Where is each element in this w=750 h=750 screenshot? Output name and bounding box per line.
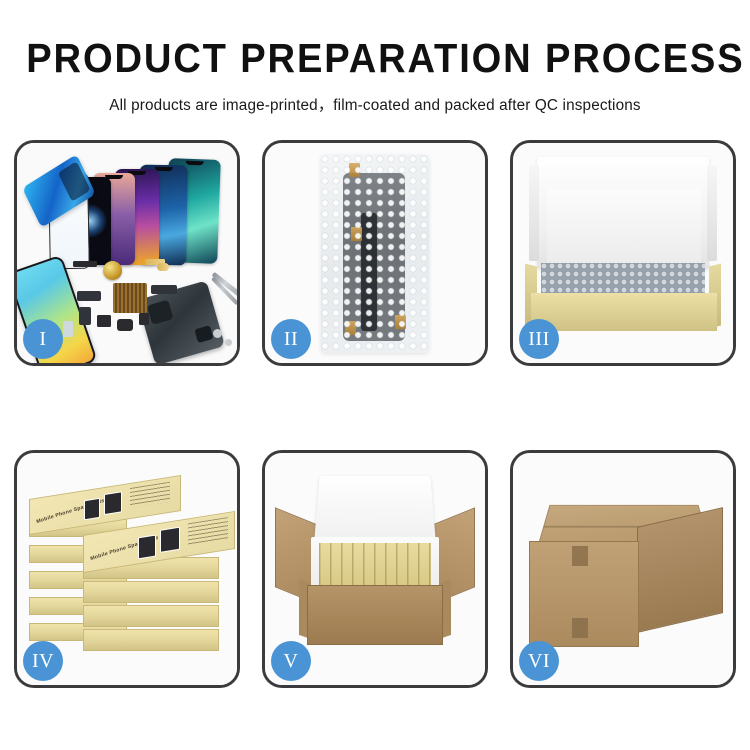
screw-part-2 [225, 339, 232, 346]
process-step-card-4[interactable]: Mobile Phone Spare Parts Mobile Phone Sp… [14, 450, 240, 688]
small-part-3 [97, 315, 111, 327]
bubble-texture [321, 155, 429, 353]
speaker-part [117, 319, 133, 331]
sim-tray-part [63, 321, 73, 337]
bubble-wrap-bag [321, 155, 429, 353]
stacked-box-front-3 [83, 605, 219, 627]
flex-cable-3 [79, 307, 91, 325]
process-steps-grid: I II III [14, 140, 736, 688]
carton-front-panel [307, 585, 443, 645]
step-badge-6: VI [519, 641, 559, 681]
small-part-1 [73, 261, 97, 267]
stacked-box-front-2 [83, 581, 219, 603]
yellow-boxes-inside [319, 543, 431, 585]
page-title: PRODUCT PREPARATION PROCESS [26, 38, 724, 79]
box-window-rear-1 [84, 498, 100, 521]
box-window-rear-2 [104, 491, 122, 515]
flex-cable-1 [77, 291, 101, 301]
screw-part-1 [213, 329, 222, 338]
gold-connector [157, 263, 169, 271]
carton-front-panel [529, 541, 639, 647]
page-header: PRODUCT PREPARATION PROCESS All products… [0, 0, 750, 115]
gold-coil-part [103, 261, 122, 280]
logic-board-chip [113, 283, 147, 313]
process-step-card-2[interactable]: II [262, 140, 488, 366]
flex-cable-2 [151, 285, 177, 294]
carton-tape-top [572, 546, 588, 566]
foam-sheet [547, 189, 701, 263]
box-window-front-2 [160, 527, 180, 553]
step-badge-5: V [271, 641, 311, 681]
bubble-wrapped-contents [541, 263, 705, 293]
step-badge-2: II [271, 319, 311, 359]
process-step-card-1[interactable]: I [14, 140, 240, 366]
carton-tape-bottom [572, 618, 588, 638]
box-window-front-1 [138, 534, 156, 559]
kraft-box-front [531, 293, 717, 331]
small-part-4 [139, 313, 149, 325]
process-step-card-3[interactable]: III [510, 140, 736, 366]
step-badge-1: I [23, 319, 63, 359]
step-badge-4: IV [23, 641, 63, 681]
foam-box-lid [314, 476, 436, 543]
page-subtitle: All products are image-printed，film-coat… [0, 93, 750, 115]
step-badge-3: III [519, 319, 559, 359]
process-step-card-5[interactable]: V [262, 450, 488, 688]
carton-right-panel [637, 507, 723, 633]
process-step-card-6[interactable]: VI [510, 450, 736, 688]
stacked-box-front-4 [83, 629, 219, 651]
